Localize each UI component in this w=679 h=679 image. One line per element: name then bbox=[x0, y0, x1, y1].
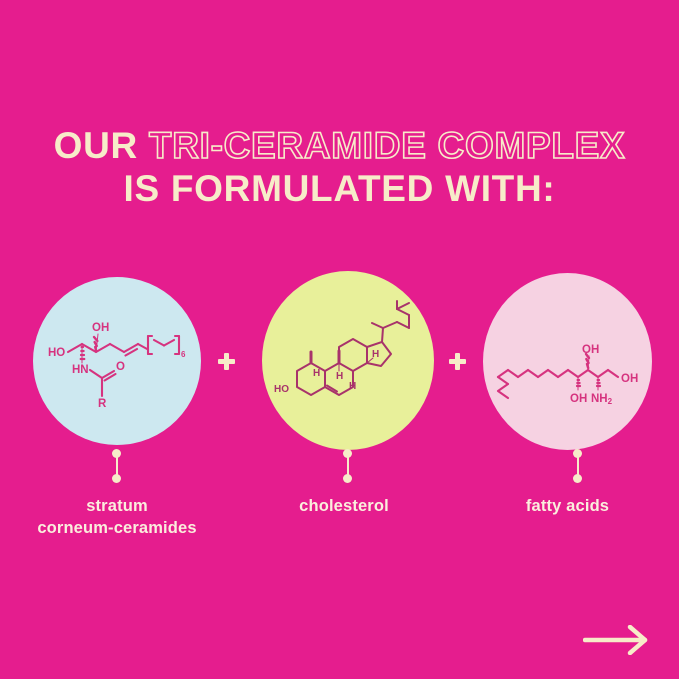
atom-label-nh2: NH2 bbox=[591, 393, 613, 406]
atom-label-oh-1: OH bbox=[582, 344, 599, 356]
connector-node-top bbox=[573, 449, 582, 458]
infographic-poster: OUR TRI-CERAMIDE COMPLEX IS FORMULATED W… bbox=[0, 0, 679, 679]
headline-word-tri-ceramide-complex: TRI-CERAMIDE COMPLEX bbox=[149, 125, 626, 166]
next-slide-arrow-icon[interactable] bbox=[583, 625, 653, 655]
ingredient-row: HO OH HN O R 6 bbox=[0, 265, 679, 465]
ingredient-label-cholesterol: cholesterol bbox=[232, 496, 456, 518]
connector-ceramides bbox=[112, 449, 121, 483]
atom-label-oh-3: OH bbox=[621, 373, 638, 385]
atom-label-h-2: H bbox=[349, 381, 356, 392]
connector-fatty-acids bbox=[573, 449, 582, 483]
page-title: OUR TRI-CERAMIDE COMPLEX IS FORMULATED W… bbox=[0, 126, 679, 208]
ingredient-bubble-fatty-acids[interactable]: OH OH OH NH2 bbox=[483, 273, 652, 450]
connector-node-bottom bbox=[112, 474, 121, 483]
ingredient-label-line-1: stratum bbox=[86, 497, 148, 515]
connector-node-bottom bbox=[573, 474, 582, 483]
phytosphingosine-structure-icon: OH OH OH NH2 bbox=[492, 314, 644, 409]
headline-line-2: IS FORMULATED WITH: bbox=[0, 169, 679, 208]
ingredient-label-line-2: corneum-ceramides bbox=[37, 519, 196, 537]
atom-label-subscript-6: 6 bbox=[181, 350, 186, 359]
atom-label-o: O bbox=[116, 361, 125, 373]
atom-label-h-1: H bbox=[336, 371, 343, 382]
atom-label-ho: HO bbox=[274, 384, 289, 395]
atom-label-r: R bbox=[98, 398, 107, 410]
headline-line-1: OUR TRI-CERAMIDE COMPLEX bbox=[0, 126, 679, 165]
headline-word-our: OUR bbox=[54, 125, 138, 166]
connector-node-bottom bbox=[343, 474, 352, 483]
atom-label-ho: HO bbox=[48, 347, 65, 359]
connector-cholesterol bbox=[343, 449, 352, 483]
ingredient-bubble-ceramides[interactable]: HO OH HN O R 6 bbox=[33, 277, 201, 445]
ingredient-label-fatty-acids: fatty acids bbox=[456, 496, 679, 518]
ceramide-structure-icon: HO OH HN O R 6 bbox=[42, 306, 192, 416]
atom-label-oh-2: OH bbox=[570, 393, 587, 405]
cholesterol-structure-icon: HO H H H H bbox=[273, 301, 423, 421]
connector-node-top bbox=[112, 449, 121, 458]
plus-sign-1 bbox=[218, 353, 235, 370]
atom-label-hn: HN bbox=[72, 364, 89, 376]
atom-label-h-3: H bbox=[372, 349, 379, 360]
ingredient-bubble-cholesterol[interactable]: HO H H H H bbox=[262, 271, 434, 450]
atom-label-h-4: H bbox=[313, 368, 320, 379]
connector-node-top bbox=[343, 449, 352, 458]
ingredient-label-ceramides: stratum corneum-ceramides bbox=[0, 496, 234, 540]
plus-sign-2 bbox=[449, 353, 466, 370]
atom-label-oh: OH bbox=[92, 322, 109, 334]
